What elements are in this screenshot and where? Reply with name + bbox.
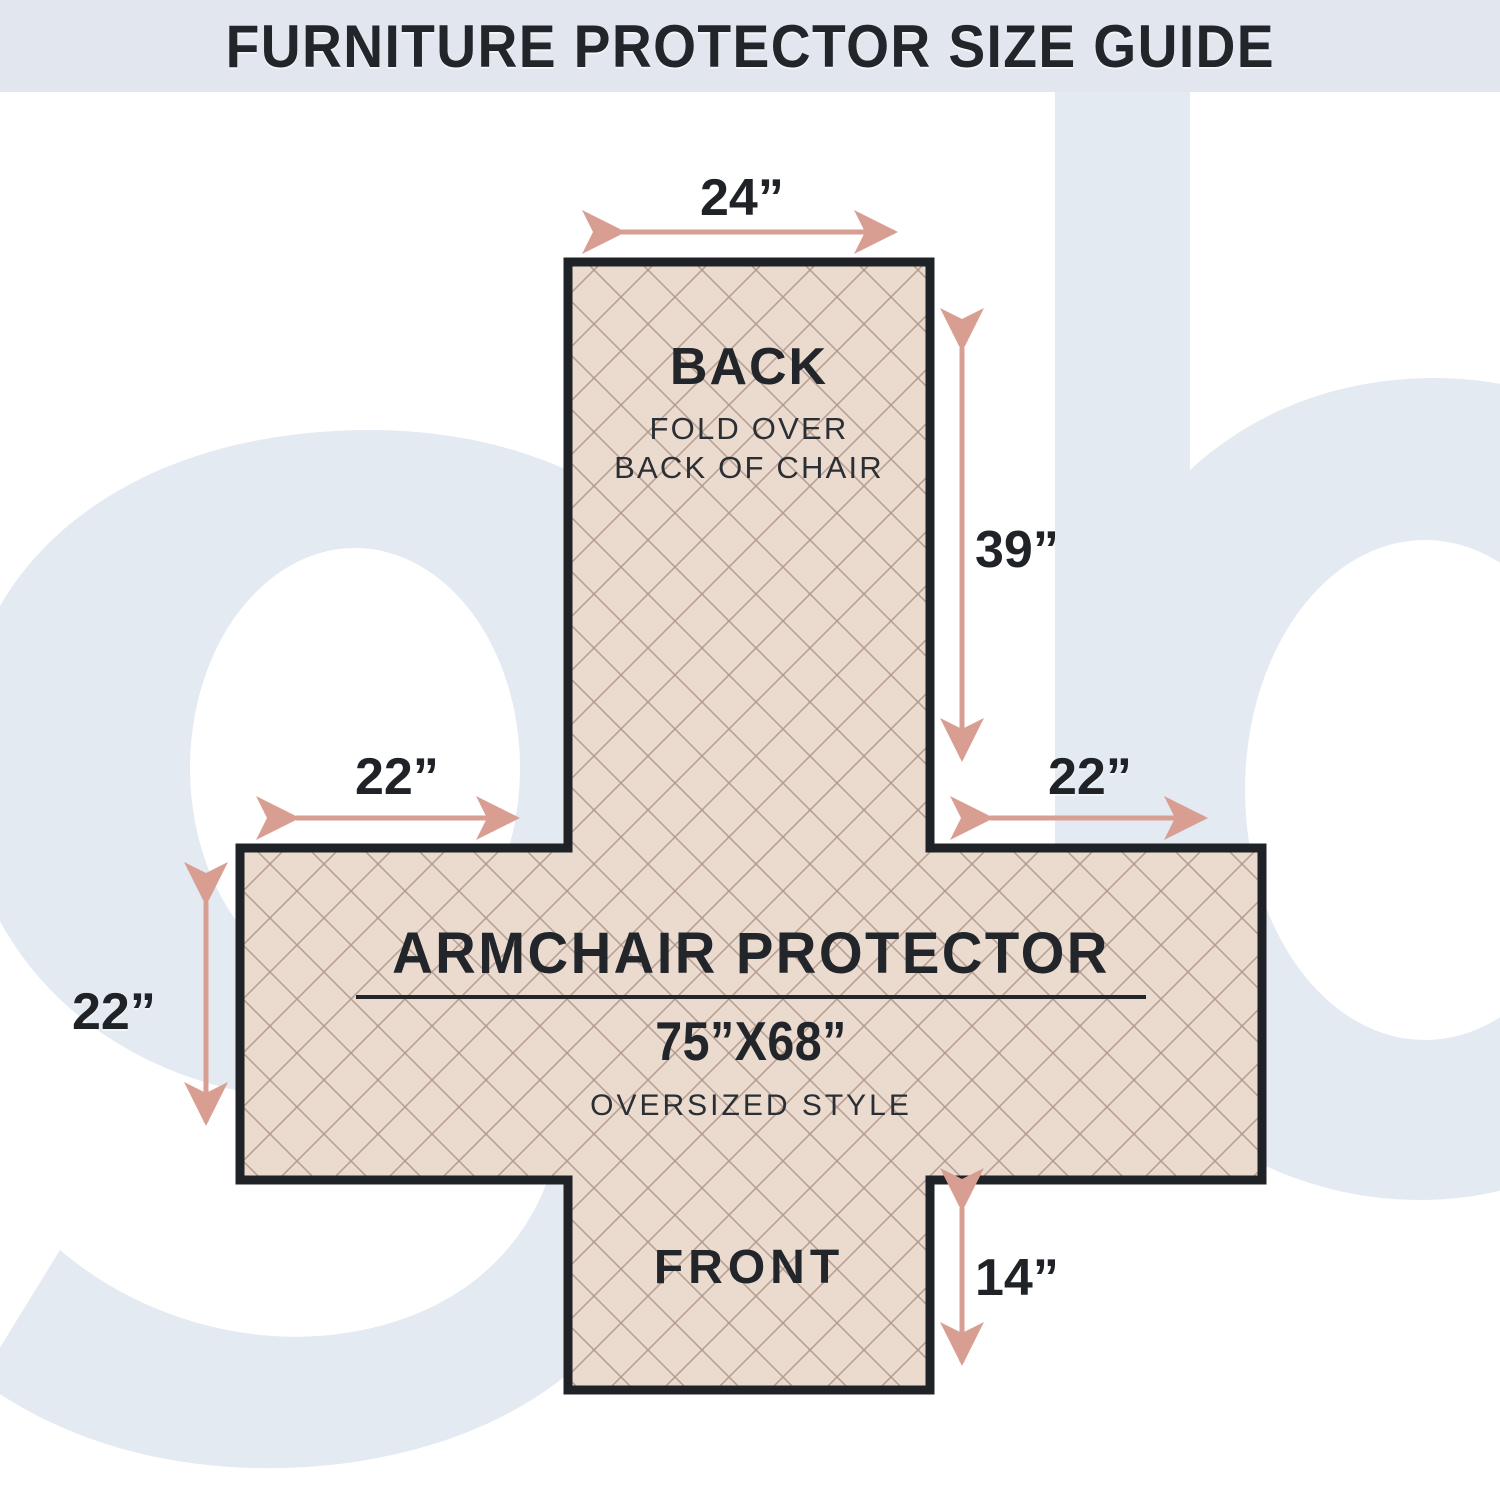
header-band: FURNITURE PROTECTOR SIZE GUIDE <box>0 0 1500 92</box>
center-section-label: ARMCHAIR PROTECTOR 75”X68” OVERSIZED STY… <box>250 920 1252 1123</box>
page-title: FURNITURE PROTECTOR SIZE GUIDE <box>225 12 1274 81</box>
back-title: BACK <box>568 340 930 395</box>
dimension-label-back-height: 39” <box>975 520 1059 580</box>
product-size: 75”X68” <box>310 1009 1192 1073</box>
back-section-label: BACK FOLD OVER BACK OF CHAIR <box>568 340 930 487</box>
back-subtitle-line-1: FOLD OVER <box>568 409 930 448</box>
dimension-label-arm-depth: 22” <box>72 982 156 1042</box>
back-subtitle-line-2: BACK OF CHAIR <box>568 448 930 487</box>
back-subtitle: FOLD OVER BACK OF CHAIR <box>568 409 930 487</box>
dimension-label-top-width: 24” <box>700 168 784 228</box>
divider-rule <box>356 995 1146 999</box>
product-name: ARMCHAIR PROTECTOR <box>265 920 1237 987</box>
dimension-label-right-arm: 22” <box>1048 747 1132 807</box>
front-section-label: FRONT <box>568 1240 930 1295</box>
dimension-label-left-arm: 22” <box>355 747 439 807</box>
front-title: FRONT <box>568 1240 930 1295</box>
product-style: OVERSIZED STYLE <box>250 1089 1252 1123</box>
dimension-label-front-height: 14” <box>975 1248 1059 1308</box>
